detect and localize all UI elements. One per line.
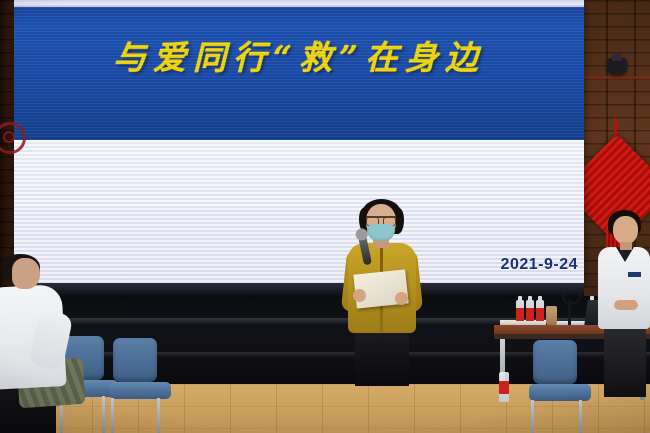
floor-water-bottle [499, 372, 509, 402]
water-bottle [516, 300, 524, 328]
chair-leg [111, 398, 114, 433]
chair-back [113, 338, 157, 382]
chair-leg [157, 398, 160, 433]
chair-back [533, 340, 577, 384]
chair-leg [531, 400, 534, 433]
person-legs [604, 327, 646, 397]
person-hand-right [395, 292, 408, 305]
microphone-stand [568, 300, 571, 326]
slide-body [14, 140, 584, 285]
person-head [613, 216, 638, 244]
wall-camera-icon [607, 58, 627, 74]
slide-banner: 与爱同行“救”在身边 [14, 7, 584, 140]
wall-rail [580, 76, 650, 79]
chair-seat [529, 384, 591, 401]
water-bottle [526, 300, 534, 328]
water-bottle [536, 300, 544, 328]
chair-leg [579, 400, 582, 433]
person-hands [614, 300, 638, 310]
person-badge [628, 272, 641, 277]
person-hand-left [353, 289, 366, 302]
person-legs [355, 330, 409, 386]
projection-screen: 与爱同行“救”在身边 [14, 0, 584, 285]
person-neck [620, 242, 632, 250]
face-mask-icon [367, 224, 395, 241]
screen-top-strip [14, 0, 584, 7]
paper-cup [546, 306, 557, 326]
slide-title: 与爱同行“救”在身边 [14, 31, 584, 79]
slide-date: 2021-9-24 [501, 256, 578, 274]
screen-bottom-frame [14, 283, 584, 296]
person-head [12, 258, 40, 289]
chair-leg [102, 396, 105, 433]
chair-seat [109, 382, 171, 399]
photo-scene: 与爱同行“救”在身边 2021-9-24 [0, 0, 650, 433]
